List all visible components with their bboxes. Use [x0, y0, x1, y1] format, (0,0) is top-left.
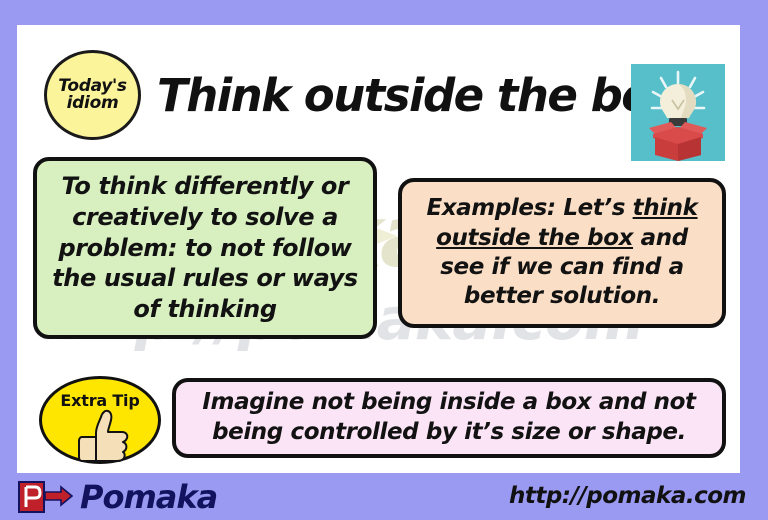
examples-text: Examples: Let’s think outside the box an…	[414, 194, 710, 312]
extra-tip-text: Imagine not being inside a box and not b…	[186, 388, 712, 448]
poster-card: Pomaka http://pomaka.com Today's idiom T…	[17, 25, 740, 473]
todays-idiom-badge: Today's idiom	[44, 50, 141, 140]
poster-page: Pomaka http://pomaka.com Today's idiom T…	[0, 0, 768, 520]
page-title: Think outside the box	[157, 69, 678, 122]
extra-tip-badge: Extra Tip	[39, 376, 161, 464]
definition-text: To think differently or creatively to so…	[51, 171, 359, 325]
lightbulb-out-of-box-icon	[631, 64, 725, 161]
examples-box: Examples: Let’s think outside the box an…	[398, 178, 726, 328]
p-arrow-logo-icon	[18, 480, 74, 514]
todays-idiom-badge-line2: idiom	[67, 95, 119, 112]
examples-before: Let’s	[556, 195, 633, 221]
brand-logo-text: Pomaka	[80, 478, 217, 516]
extra-tip-box: Imagine not being inside a box and not b…	[172, 378, 726, 458]
footer-url: http://pomaka.com	[509, 483, 746, 509]
definition-box: To think differently or creatively to so…	[33, 157, 377, 339]
poster-footer: Pomaka http://pomaka.com	[0, 473, 768, 520]
thumbs-up-icon	[72, 407, 134, 463]
brand-logo: Pomaka	[18, 478, 217, 516]
examples-label: Examples:	[426, 195, 555, 221]
